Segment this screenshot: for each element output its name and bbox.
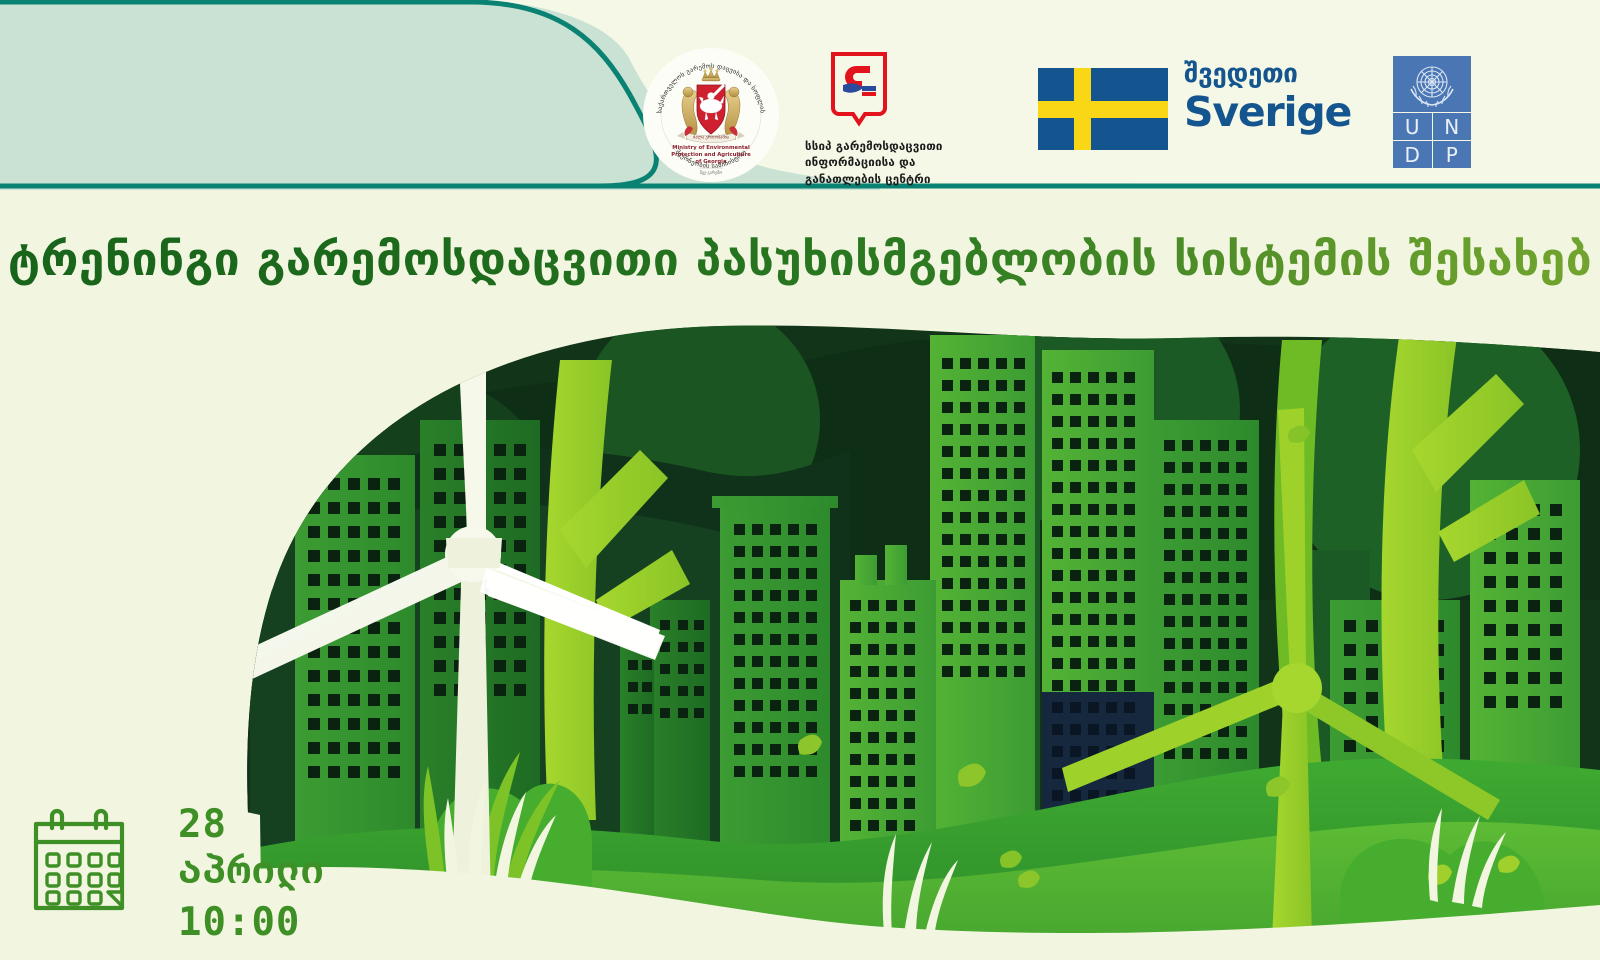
page-title: ტრენინგი გარემოსდაცვითი პასუხისმგებლობის… bbox=[0, 223, 1600, 295]
undp-logo: U N D P bbox=[1393, 56, 1473, 168]
event-datetime-text: 28 აპრილი 10:00 bbox=[178, 802, 358, 946]
environmental-info-center-logo: სსიპ გარემოსდაცვითი ინფორმაციისა და განა… bbox=[805, 52, 1005, 182]
undp-letter-p: P bbox=[1433, 141, 1472, 168]
eic-label-line-1: სსიპ გარემოსდაცვითი bbox=[805, 138, 1005, 154]
sweden-label-en: Sverige bbox=[1184, 91, 1351, 134]
svg-text:Protection and Agriculture: Protection and Agriculture bbox=[671, 152, 751, 158]
undp-letter-u: U bbox=[1393, 113, 1432, 140]
eic-mark-icon bbox=[829, 52, 889, 132]
ministry-of-environment-seal: საქართველოს გარემოს დაცვისა და სოფლის მე… bbox=[643, 48, 779, 182]
sweden-label-ka: შვედეთი bbox=[1184, 60, 1351, 89]
sweden-logo: შვედეთი Sverige bbox=[1038, 60, 1338, 168]
event-date: 28 აპრილი bbox=[178, 802, 358, 894]
undp-letter-d: D bbox=[1393, 141, 1432, 168]
undp-letter-n: N bbox=[1433, 113, 1472, 140]
svg-text:of Georgia: of Georgia bbox=[695, 159, 727, 165]
svg-text:ძალა ერთობაშია: ძალა ერთობაშია bbox=[693, 136, 729, 141]
un-emblem-icon bbox=[1393, 56, 1471, 112]
calendar-icon bbox=[28, 806, 130, 916]
event-datetime-block: 28 აპრილი 10:00 bbox=[28, 800, 358, 940]
svg-text:მცე-გარემო: მცე-გარემო bbox=[700, 170, 723, 175]
eic-label-line-2: ინფორმაციისა და bbox=[805, 154, 1005, 170]
undp-letter-grid: U N D P bbox=[1393, 113, 1471, 168]
svg-text:Ministry of Environmental: Ministry of Environmental bbox=[672, 145, 750, 151]
event-time: 10:00 bbox=[178, 900, 358, 946]
header-logo-row: საქართველოს გარემოს დაცვისა და სოფლის მე… bbox=[0, 0, 1600, 200]
seal-artwork: საქართველოს გარემოს დაცვისა და სოფლის მე… bbox=[643, 48, 779, 182]
sweden-wordmark: შვედეთი Sverige bbox=[1184, 60, 1351, 134]
sweden-flag-icon bbox=[1038, 68, 1168, 150]
eic-label: სსიპ გარემოსდაცვითი ინფორმაციისა და განა… bbox=[805, 138, 1005, 187]
eic-label-line-3: განათლების ცენტრი bbox=[805, 171, 1005, 187]
